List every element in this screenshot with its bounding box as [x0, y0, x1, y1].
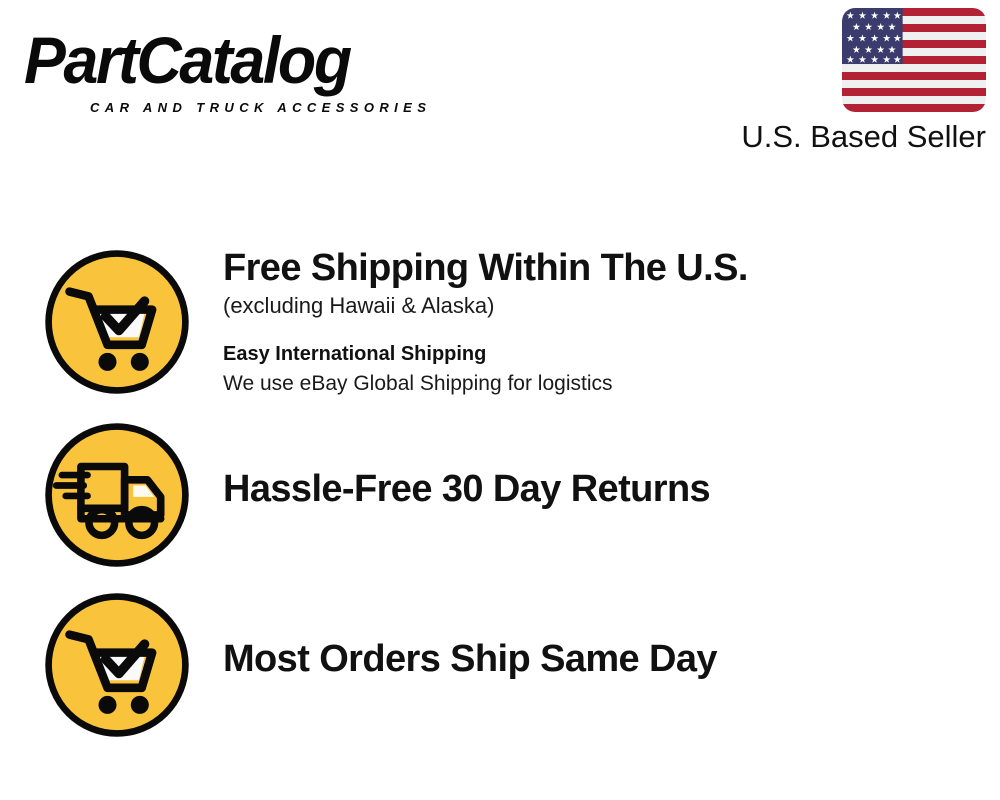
feature-heading: Free Shipping Within The U.S. [223, 245, 1000, 291]
feature-subnote: We use eBay Global Shipping for logistic… [223, 369, 1000, 399]
feature-text-block: Free Shipping Within The U.S. (excluding… [223, 243, 1000, 399]
brand-logo: PartCatalog CAR AND TRUCK ACCESSORIES [24, 24, 494, 116]
promo-banner: PartCatalog CAR AND TRUCK ACCESSORIES [0, 0, 1000, 800]
delivery-truck-icon [41, 416, 193, 574]
brand-tagline: CAR AND TRUCK ACCESSORIES [90, 100, 431, 115]
feature-text-block: Hassle-Free 30 Day Returns [223, 416, 1000, 512]
feature-subtext: (excluding Hawaii & Alaska) [223, 291, 1000, 321]
feature-text-block: Most Orders Ship Same Day [223, 586, 1000, 682]
feature-heading: Hassle-Free 30 Day Returns [223, 466, 1000, 512]
us-based-seller-label: U.S. Based Seller [710, 118, 986, 156]
feature-row: Free Shipping Within The U.S. (excluding… [0, 243, 1000, 401]
feature-row: Hassle-Free 30 Day Returns [0, 416, 1000, 574]
brand-wordmark: PartCatalog [24, 24, 471, 96]
shopping-cart-check-icon [41, 586, 193, 744]
us-flag-icon [842, 8, 986, 112]
shopping-cart-check-icon [41, 243, 193, 401]
feature-subheading: Easy International Shipping [223, 339, 1000, 369]
feature-heading: Most Orders Ship Same Day [223, 636, 1000, 682]
feature-row: Most Orders Ship Same Day [0, 586, 1000, 744]
us-based-seller-badge: U.S. Based Seller [710, 8, 986, 156]
